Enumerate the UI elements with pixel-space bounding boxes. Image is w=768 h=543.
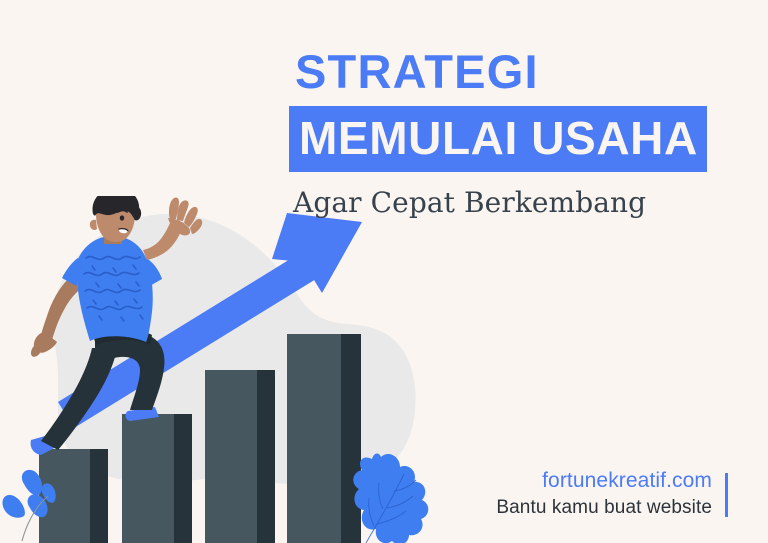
footer-text-group: fortunekreatif.com Bantu kamu buat websi… — [496, 467, 728, 521]
bar-4 — [287, 334, 361, 543]
leaf-bottom-right-oak — [353, 453, 428, 543]
heading-block: STRATEGI MEMULAI USAHA Agar Cepat Berkem… — [289, 48, 749, 219]
poster-canvas: STRATEGI MEMULAI USAHA Agar Cepat Berkem… — [0, 0, 768, 543]
footer-tagline: Bantu kamu buat website — [496, 495, 712, 521]
page-title-line1: STRATEGI — [295, 48, 749, 95]
footer-divider-rule — [725, 473, 728, 517]
bar-3 — [205, 370, 275, 543]
page-title-line2: MEMULAI USAHA — [289, 106, 707, 172]
illustration-man-climbing-bar-chart — [0, 196, 430, 543]
page-subtitle: Agar Cepat Berkembang — [293, 186, 749, 219]
website-url[interactable]: fortunekreatif.com — [496, 467, 712, 495]
footer-block: fortunekreatif.com Bantu kamu buat websi… — [496, 467, 728, 521]
bar-2 — [122, 414, 192, 543]
